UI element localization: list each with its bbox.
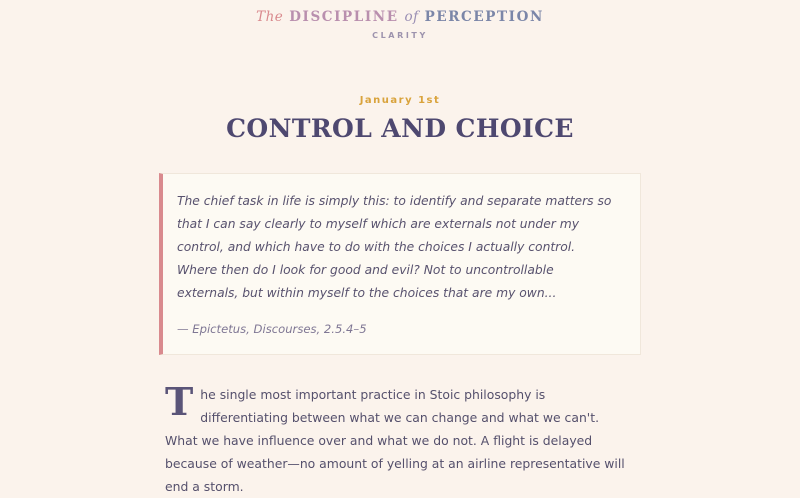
body-paragraph: The single most important practice in St…: [165, 383, 635, 498]
page-title: CONTROL AND CHOICE: [0, 115, 800, 143]
body-paragraph-text: he single most important practice in Sto…: [165, 387, 625, 494]
series-title-word-perception: PERCEPTION: [425, 9, 544, 25]
quote-block: The chief task in life is simply this: t…: [159, 173, 641, 355]
series-title: The DISCIPLINE of PERCEPTION: [0, 10, 800, 25]
quote-text: The chief task in life is simply this: t…: [177, 190, 618, 305]
entry-date: January 1st: [0, 95, 800, 106]
body-section: The single most important practice in St…: [165, 383, 635, 498]
drop-cap: T: [165, 383, 200, 419]
quote-attribution: — Epictetus, Discourses, 2.5.4–5: [177, 322, 618, 336]
series-subtitle: CLARITY: [0, 31, 800, 40]
masthead: The DISCIPLINE of PERCEPTION CLARITY: [0, 0, 800, 40]
series-title-word-the: The: [256, 9, 283, 25]
page-root: The DISCIPLINE of PERCEPTION CLARITY Jan…: [0, 0, 800, 450]
series-title-word-of: of: [405, 9, 419, 25]
entry-header: January 1st CONTROL AND CHOICE: [0, 95, 800, 143]
series-title-word-discipline: DISCIPLINE: [289, 9, 398, 25]
